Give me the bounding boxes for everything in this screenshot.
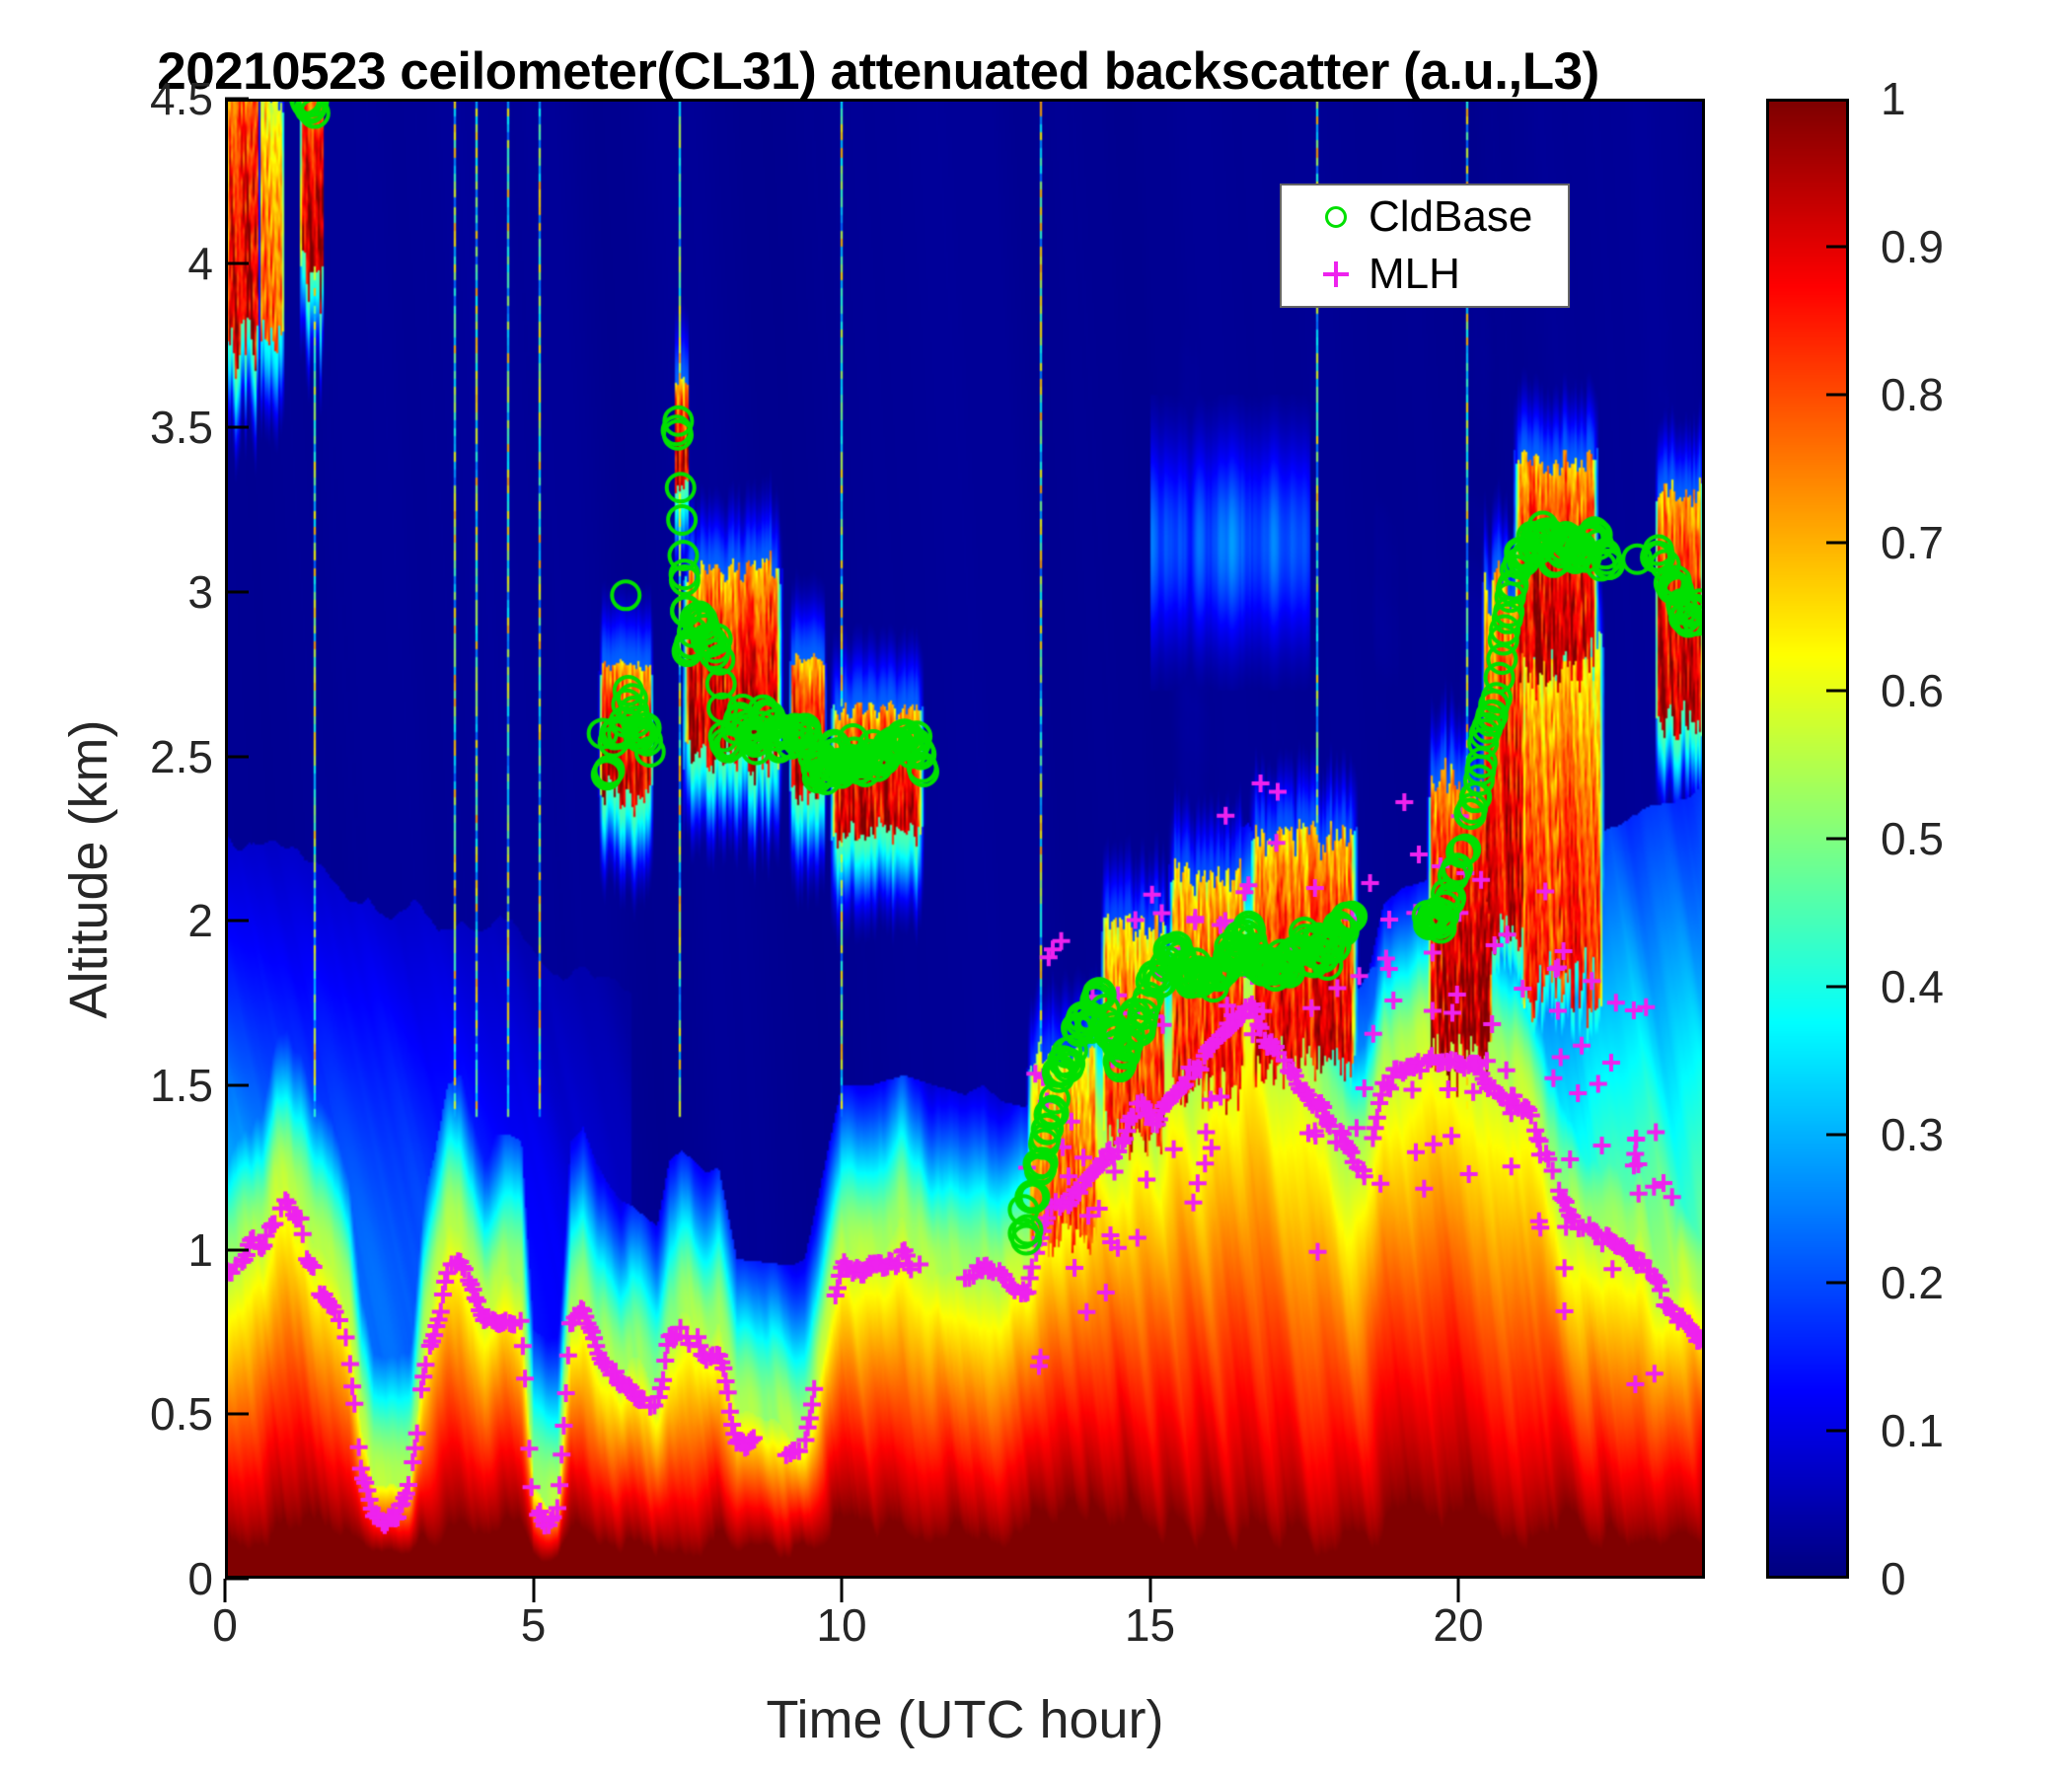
y-axis-tick-mark-9	[225, 98, 249, 101]
colorbar-tick-mark-2	[1826, 1282, 1849, 1285]
y-axis-tick-9: 4.5	[150, 72, 213, 125]
x-axis-tick-mark-1	[532, 1579, 535, 1602]
colorbar-tick-mark-4	[1826, 986, 1849, 989]
y-axis-tick-mark-3	[225, 1084, 249, 1087]
colorbar-tick-mark-1	[1826, 1430, 1849, 1433]
colorbar-tick-9: 0.9	[1881, 220, 1944, 273]
circle-marker-icon	[1303, 206, 1369, 228]
x-axis-tick-mark-4	[1457, 1579, 1460, 1602]
y-axis-tick-2: 1	[187, 1223, 213, 1277]
colorbar-tick-8: 0.8	[1881, 368, 1944, 421]
x-axis-tick-1: 5	[521, 1598, 547, 1652]
colorbar-tick-2: 0.2	[1881, 1256, 1944, 1309]
colorbar-tick-6: 0.6	[1881, 664, 1944, 717]
colorbar-tick-5: 0.5	[1881, 812, 1944, 865]
colorbar-tick-mark-5	[1826, 838, 1849, 841]
y-axis-tick-mark-8	[225, 261, 249, 264]
colorbar-tick-mark-9	[1826, 246, 1849, 249]
colorbar-tick-mark-3	[1826, 1134, 1849, 1137]
x-axis-tick-mark-3	[1148, 1579, 1151, 1602]
y-axis-tick-3: 1.5	[150, 1059, 213, 1112]
y-axis-tick-mark-0	[225, 1578, 249, 1581]
colorbar-tick-7: 0.7	[1881, 516, 1944, 569]
y-axis-tick-6: 3	[187, 565, 213, 619]
legend-label-mlh: MLH	[1369, 250, 1460, 299]
x-axis-tick-0: 0	[212, 1598, 238, 1652]
colorbar-tick-mark-8	[1826, 394, 1849, 397]
plot-area	[225, 99, 1705, 1579]
y-axis-tick-mark-4	[225, 920, 249, 923]
y-axis-tick-1: 0.5	[150, 1387, 213, 1441]
colorbar-tick-1: 0.1	[1881, 1404, 1944, 1457]
y-axis-tick-mark-2	[225, 1248, 249, 1251]
y-axis-tick-mark-7	[225, 426, 249, 429]
colorbar-tick-3: 0.3	[1881, 1108, 1944, 1161]
colorbar-tick-10: 1	[1881, 72, 1906, 125]
y-axis-tick-4: 2	[187, 894, 213, 947]
y-axis-label: Altitude (km)	[58, 129, 119, 1609]
y-axis-tick-7: 3.5	[150, 401, 213, 454]
legend: CldBase MLH	[1280, 184, 1570, 308]
y-axis-tick-mark-1	[225, 1413, 249, 1416]
x-axis-tick-2: 10	[816, 1598, 866, 1652]
y-axis-tick-mark-5	[225, 755, 249, 758]
x-axis-tick-3: 15	[1125, 1598, 1175, 1652]
marker-overlay	[225, 99, 1705, 1579]
colorbar-tick-mark-7	[1826, 542, 1849, 545]
x-axis-tick-mark-2	[841, 1579, 844, 1602]
y-axis-tick-0: 0	[187, 1552, 213, 1605]
ceilometer-backscatter-figure: 20210523 ceilometer(CL31) attenuated bac…	[0, 0, 2072, 1776]
colorbar-tick-mark-6	[1826, 690, 1849, 693]
y-axis-tick-8: 4	[187, 237, 213, 290]
x-axis-tick-4: 20	[1433, 1598, 1483, 1652]
y-axis-tick-5: 2.5	[150, 730, 213, 783]
legend-item-mlh: MLH	[1282, 246, 1568, 303]
page-title: 20210523 ceilometer(CL31) attenuated bac…	[0, 41, 1756, 102]
colorbar-tick-0: 0	[1881, 1552, 1906, 1605]
y-axis-tick-mark-6	[225, 591, 249, 594]
x-axis-label: Time (UTC hour)	[225, 1689, 1705, 1750]
plus-marker-icon	[1303, 261, 1369, 287]
colorbar-tick-4: 0.4	[1881, 960, 1944, 1013]
legend-label-cldbase: CldBase	[1369, 192, 1532, 242]
legend-item-cldbase: CldBase	[1282, 188, 1568, 246]
x-axis-tick-mark-0	[224, 1579, 227, 1602]
